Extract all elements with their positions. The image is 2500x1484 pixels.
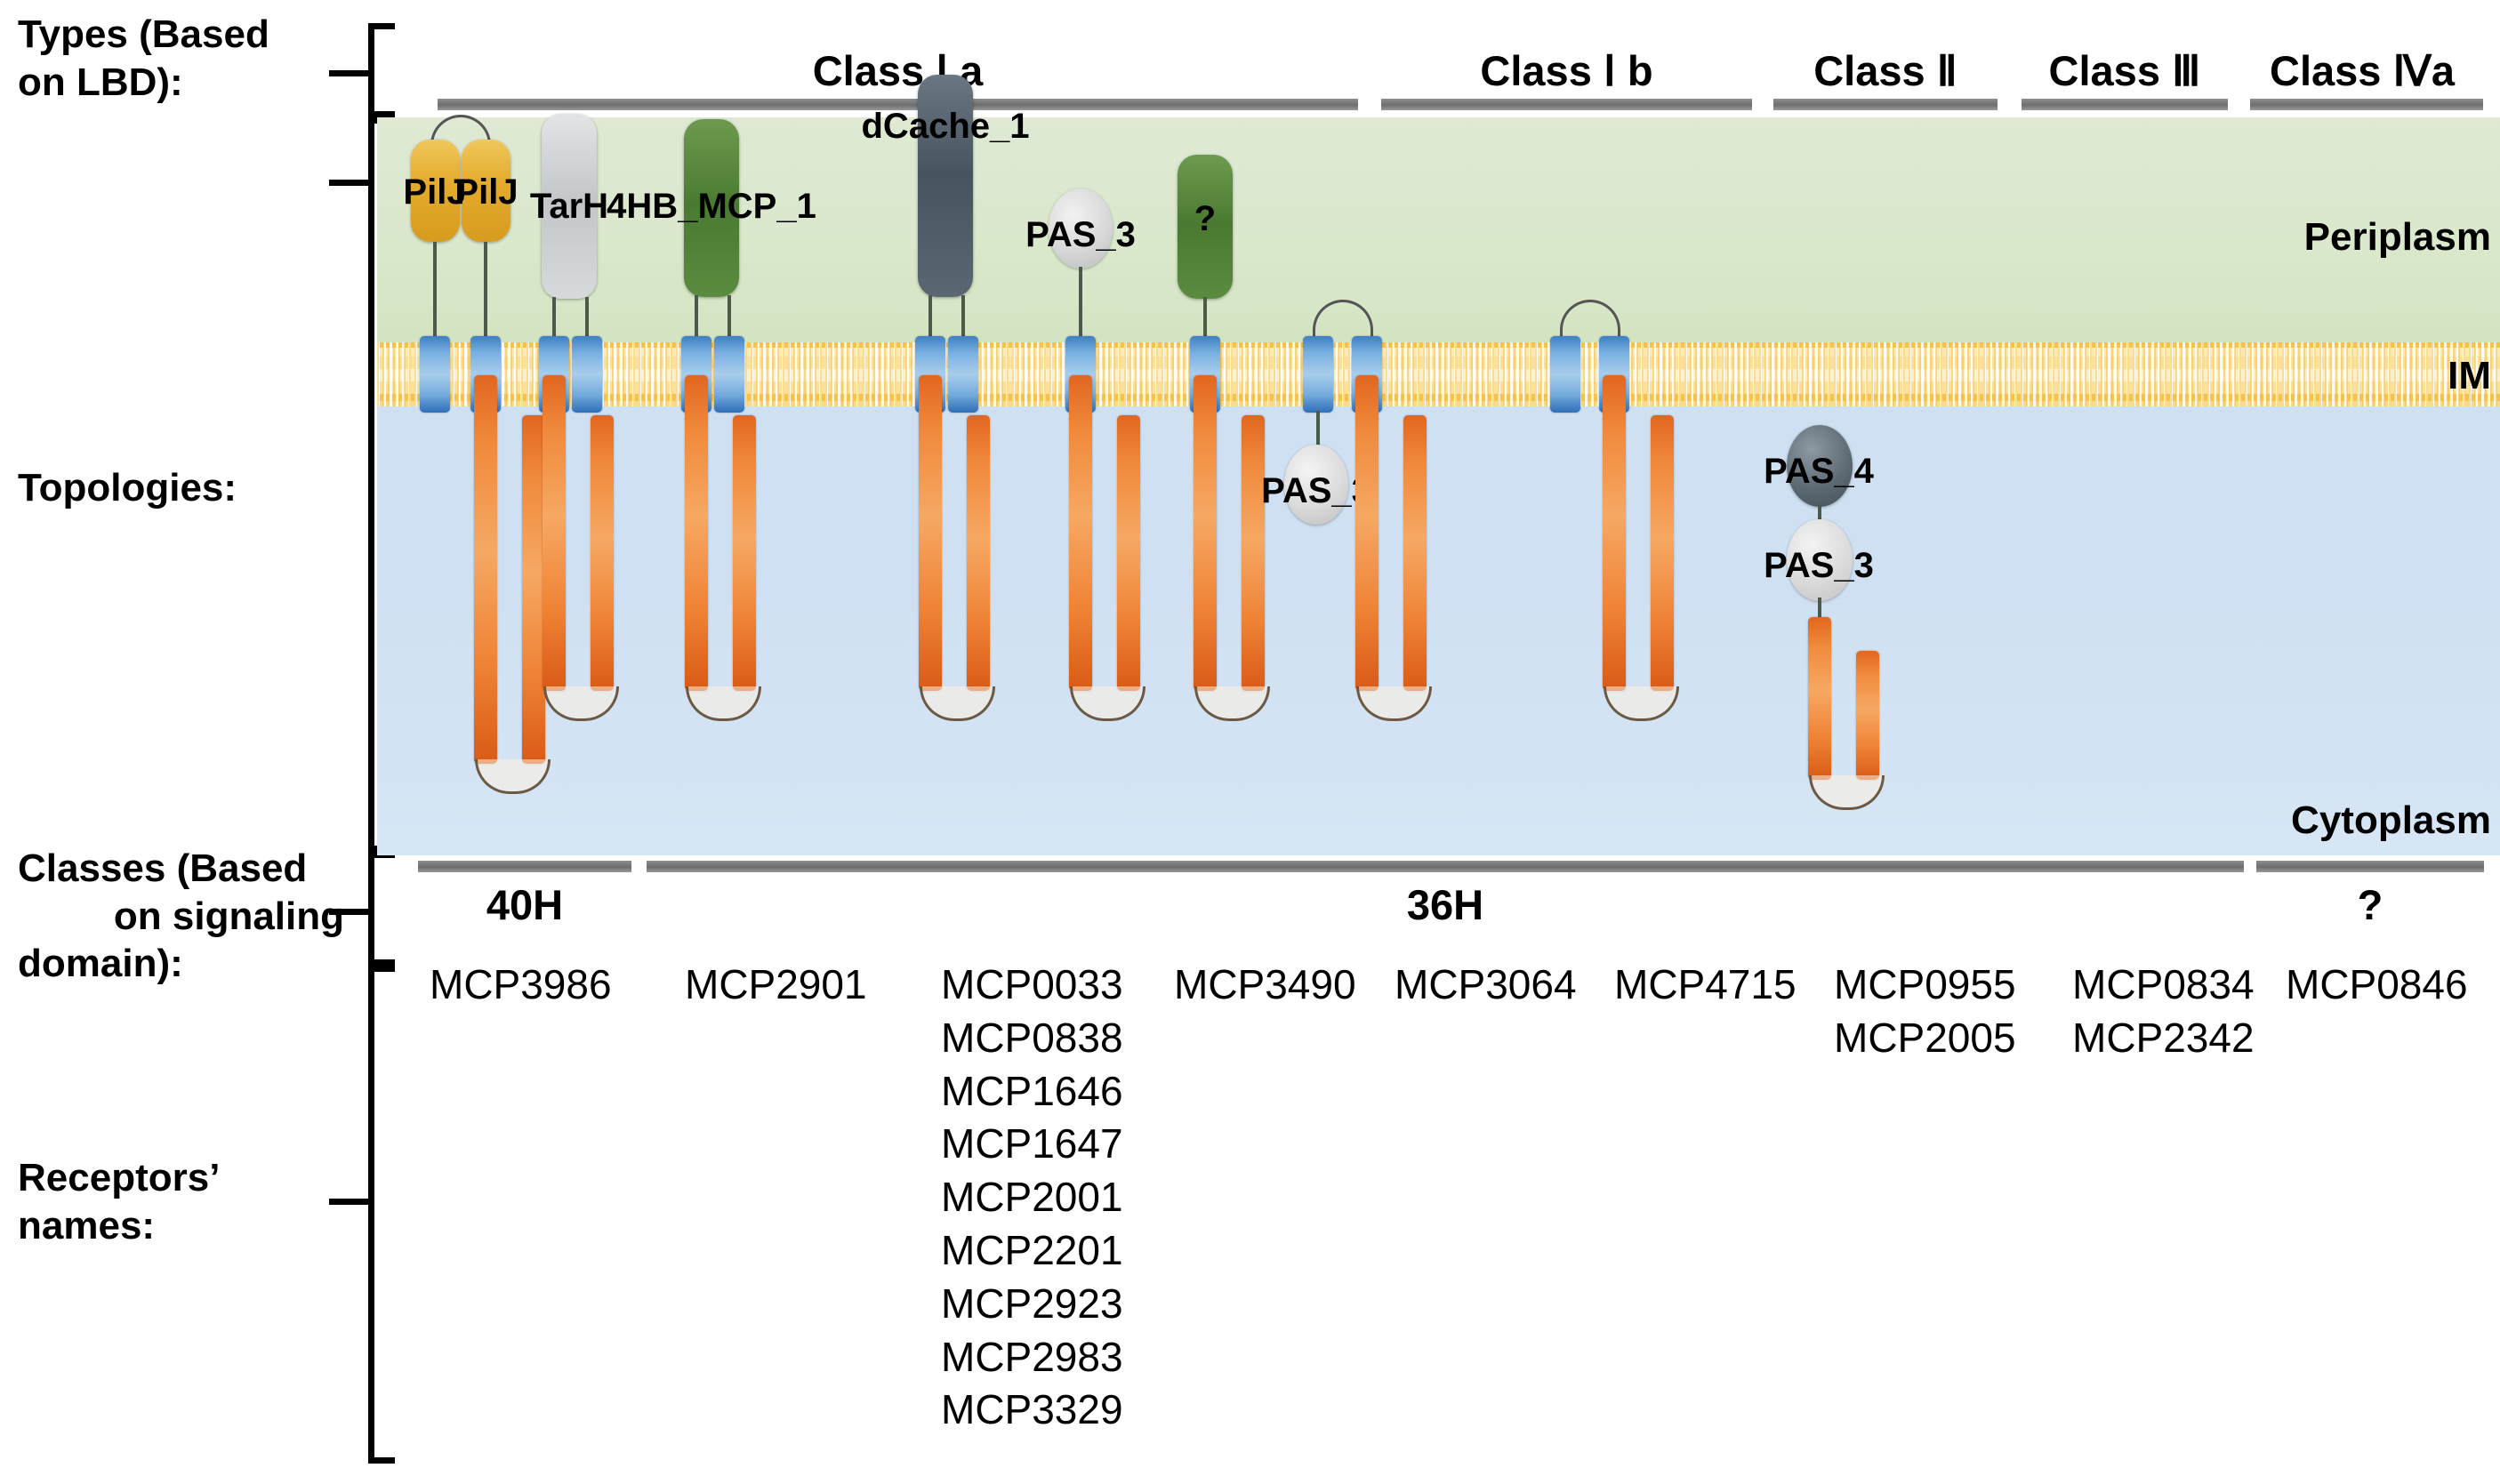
class-label-class-4a: Class Ⅳa <box>2241 46 2483 96</box>
class-label-roman: Ⅰ <box>1604 49 1616 95</box>
class-label-class-3: Class Ⅲ <box>2022 46 2228 96</box>
signaling-helix-36h <box>1194 375 1217 691</box>
receptor-name: MCP1647 <box>941 1118 1123 1171</box>
membrane-label: IM <box>2448 354 2491 398</box>
signaling-helix-36h <box>685 375 708 691</box>
receptor-column-class3: MCP0834 MCP2342 <box>2072 959 2255 1065</box>
class-bar-class-3 <box>2022 99 2228 110</box>
signaling-helix-36h <box>1117 415 1140 691</box>
receptor-name: MCP0955 <box>1834 959 2016 1012</box>
receptor-name: MCP3986 <box>430 959 612 1012</box>
receptor-name: MCP0838 <box>941 1012 1123 1065</box>
lbd-label-unknown: ? <box>1178 199 1233 239</box>
bracket-tick <box>329 180 372 186</box>
row-label-classes: Classes (Based on signaling domain): <box>18 845 369 988</box>
receptor-name: MCP0033 <box>941 959 1123 1012</box>
receptor-name: MCP2005 <box>1834 1012 2016 1065</box>
tm-helix <box>714 336 744 413</box>
class-label-class-1a: Class Ⅰ a <box>438 46 1358 96</box>
receptor-name: MCP0834 <box>2072 959 2255 1012</box>
class-label-roman: Ⅱ <box>1937 49 1957 95</box>
receptor-column-class1a-main: MCP0033 MCP0838 MCP1646 MCP1647 MCP2001 … <box>941 959 1123 1437</box>
signaling-helix-class4 <box>1808 617 1831 780</box>
receptor-name: MCP2923 <box>941 1278 1123 1331</box>
row-label-types: Types (Based on LBD): <box>18 11 356 106</box>
bracket-tick <box>329 1199 372 1205</box>
receptor-column-mcp3490: MCP3490 <box>1174 959 1356 1012</box>
signaling-helix-40h <box>474 375 497 764</box>
class-label-prefix: Class <box>1480 47 1603 94</box>
bracket-cap-bottom <box>368 959 395 966</box>
signaling-helix-36h <box>1069 375 1092 691</box>
signaling-helix-36h <box>967 415 990 691</box>
tm-helix <box>1303 336 1333 413</box>
receptor-column-mcp3064: MCP3064 <box>1395 959 1577 1012</box>
receptor-name: MCP3490 <box>1174 959 1356 1012</box>
tm-helix <box>948 336 978 413</box>
class-bar-class-1b <box>1381 99 1752 110</box>
bracket-cap-top <box>368 23 395 29</box>
class-bar-class-4a <box>2250 99 2483 110</box>
signaling-label-40h: 40H <box>418 880 631 929</box>
pas3-helix-linker <box>1818 598 1821 619</box>
row-label-topologies-text: Topologies: <box>18 464 356 512</box>
row-label-receptors: Receptors’ names: <box>18 1154 356 1249</box>
pas-3-periplasmic-stalk <box>1079 267 1082 342</box>
receptor-column-mcp3986: MCP3986 <box>430 959 612 1012</box>
receptor-name: MCP2901 <box>685 959 867 1012</box>
class-label-suffix: a <box>2432 47 2455 94</box>
signaling-helix-36h <box>591 415 614 691</box>
receptor-name: MCP0846 <box>2286 959 2468 1012</box>
receptor-name: MCP4715 <box>1614 959 1797 1012</box>
receptor-name: MCP2342 <box>2072 1012 2255 1065</box>
bracket-tick <box>329 909 372 915</box>
row-label-types-line2: on LBD): <box>18 59 356 107</box>
periplasm-label: Periplasm <box>2304 215 2491 260</box>
class-label-suffix: b <box>1616 47 1653 94</box>
class-label-prefix: Class <box>2049 47 2172 94</box>
cyto-label-pas-4-class4: PAS_4 <box>1745 452 1893 492</box>
pilj-left-stalk <box>433 242 437 342</box>
signaling-helix-36h <box>1355 375 1379 691</box>
class-label-prefix: Class <box>2270 47 2392 94</box>
row-label-classes-line2: on signaling <box>18 893 369 941</box>
bracket-spine <box>368 966 374 1464</box>
tm-helix <box>572 336 602 413</box>
receptor-column-mcp4715: MCP4715 <box>1614 959 1797 1012</box>
signaling-helix-class4 <box>1856 651 1879 780</box>
pilj-right-stalk <box>484 242 487 342</box>
signaling-helix-36h <box>1403 415 1427 691</box>
class-bar-class-2 <box>1773 99 1998 110</box>
row-label-classes-line1: Classes (Based <box>18 845 369 893</box>
row-label-types-line1: Types (Based <box>18 11 356 59</box>
class-label-prefix: Class <box>1813 47 1936 94</box>
signaling-helix-36h <box>733 415 756 691</box>
signaling-bar-36h <box>647 861 2244 872</box>
receptor-name: MCP2001 <box>941 1171 1123 1224</box>
signaling-helix-36h <box>543 375 566 691</box>
lbd-label-4hb-mcp-1: 4HB_MCP_1 <box>589 187 834 227</box>
signaling-label-unknown: ? <box>2256 880 2484 929</box>
cell-diagram: Periplasm IM Cytoplasm PilJ PilJ TarH 4H… <box>377 117 2500 855</box>
bracket-cap-bottom <box>368 1457 395 1464</box>
bracket-cap-top <box>368 966 395 972</box>
row-label-classes-line3: domain): <box>18 940 369 988</box>
tm-helix <box>420 336 450 413</box>
class-label-roman: Ⅲ <box>2172 49 2200 95</box>
signaling-label-36h: 36H <box>647 880 2244 929</box>
lbd-label-pilj-right: PilJ <box>448 172 525 213</box>
tm-helix <box>1550 336 1580 413</box>
cytoplasm-label: Cytoplasm <box>2291 798 2491 843</box>
signaling-helix-36h <box>1242 415 1265 691</box>
class-label-class-2: Class Ⅱ <box>1773 46 1998 96</box>
receptor-column-class2: MCP0955 MCP2005 <box>1834 959 2016 1065</box>
bracket-tick <box>329 70 372 76</box>
bracket-cap-bottom <box>368 111 395 117</box>
receptor-name: MCP3064 <box>1395 959 1577 1012</box>
receptor-name: MCP2201 <box>941 1224 1123 1278</box>
row-label-receptors-line2: names: <box>18 1202 356 1250</box>
cyto-label-pas-3-class4: PAS_3 <box>1745 546 1893 586</box>
class-label-roman: Ⅳ <box>2392 49 2431 95</box>
lbd-label-dcache-1: dCache_1 <box>847 107 1044 147</box>
row-label-topologies: Topologies: <box>18 464 356 512</box>
class-label-class-1b: Class Ⅰ b <box>1381 46 1752 96</box>
lbd-label-pas-3-periplasmic: PAS_3 <box>1007 215 1154 255</box>
bracket-spine <box>368 117 374 852</box>
receptor-name: MCP3329 <box>941 1384 1123 1437</box>
class-label-prefix: Class <box>813 47 936 94</box>
receptor-name: MCP1646 <box>941 1065 1123 1119</box>
signaling-helix-36h <box>1651 415 1674 691</box>
receptor-column-mcp2901: MCP2901 <box>685 959 867 1012</box>
receptor-name: MCP2983 <box>941 1331 1123 1384</box>
signaling-bar-unknown <box>2256 861 2484 872</box>
signaling-bar-40h <box>418 861 631 872</box>
receptor-column-class4a: MCP0846 <box>2286 959 2468 1012</box>
row-label-receptors-line1: Receptors’ <box>18 1154 356 1202</box>
signaling-helix-36h <box>919 375 942 691</box>
signaling-helix-36h <box>1603 375 1626 691</box>
